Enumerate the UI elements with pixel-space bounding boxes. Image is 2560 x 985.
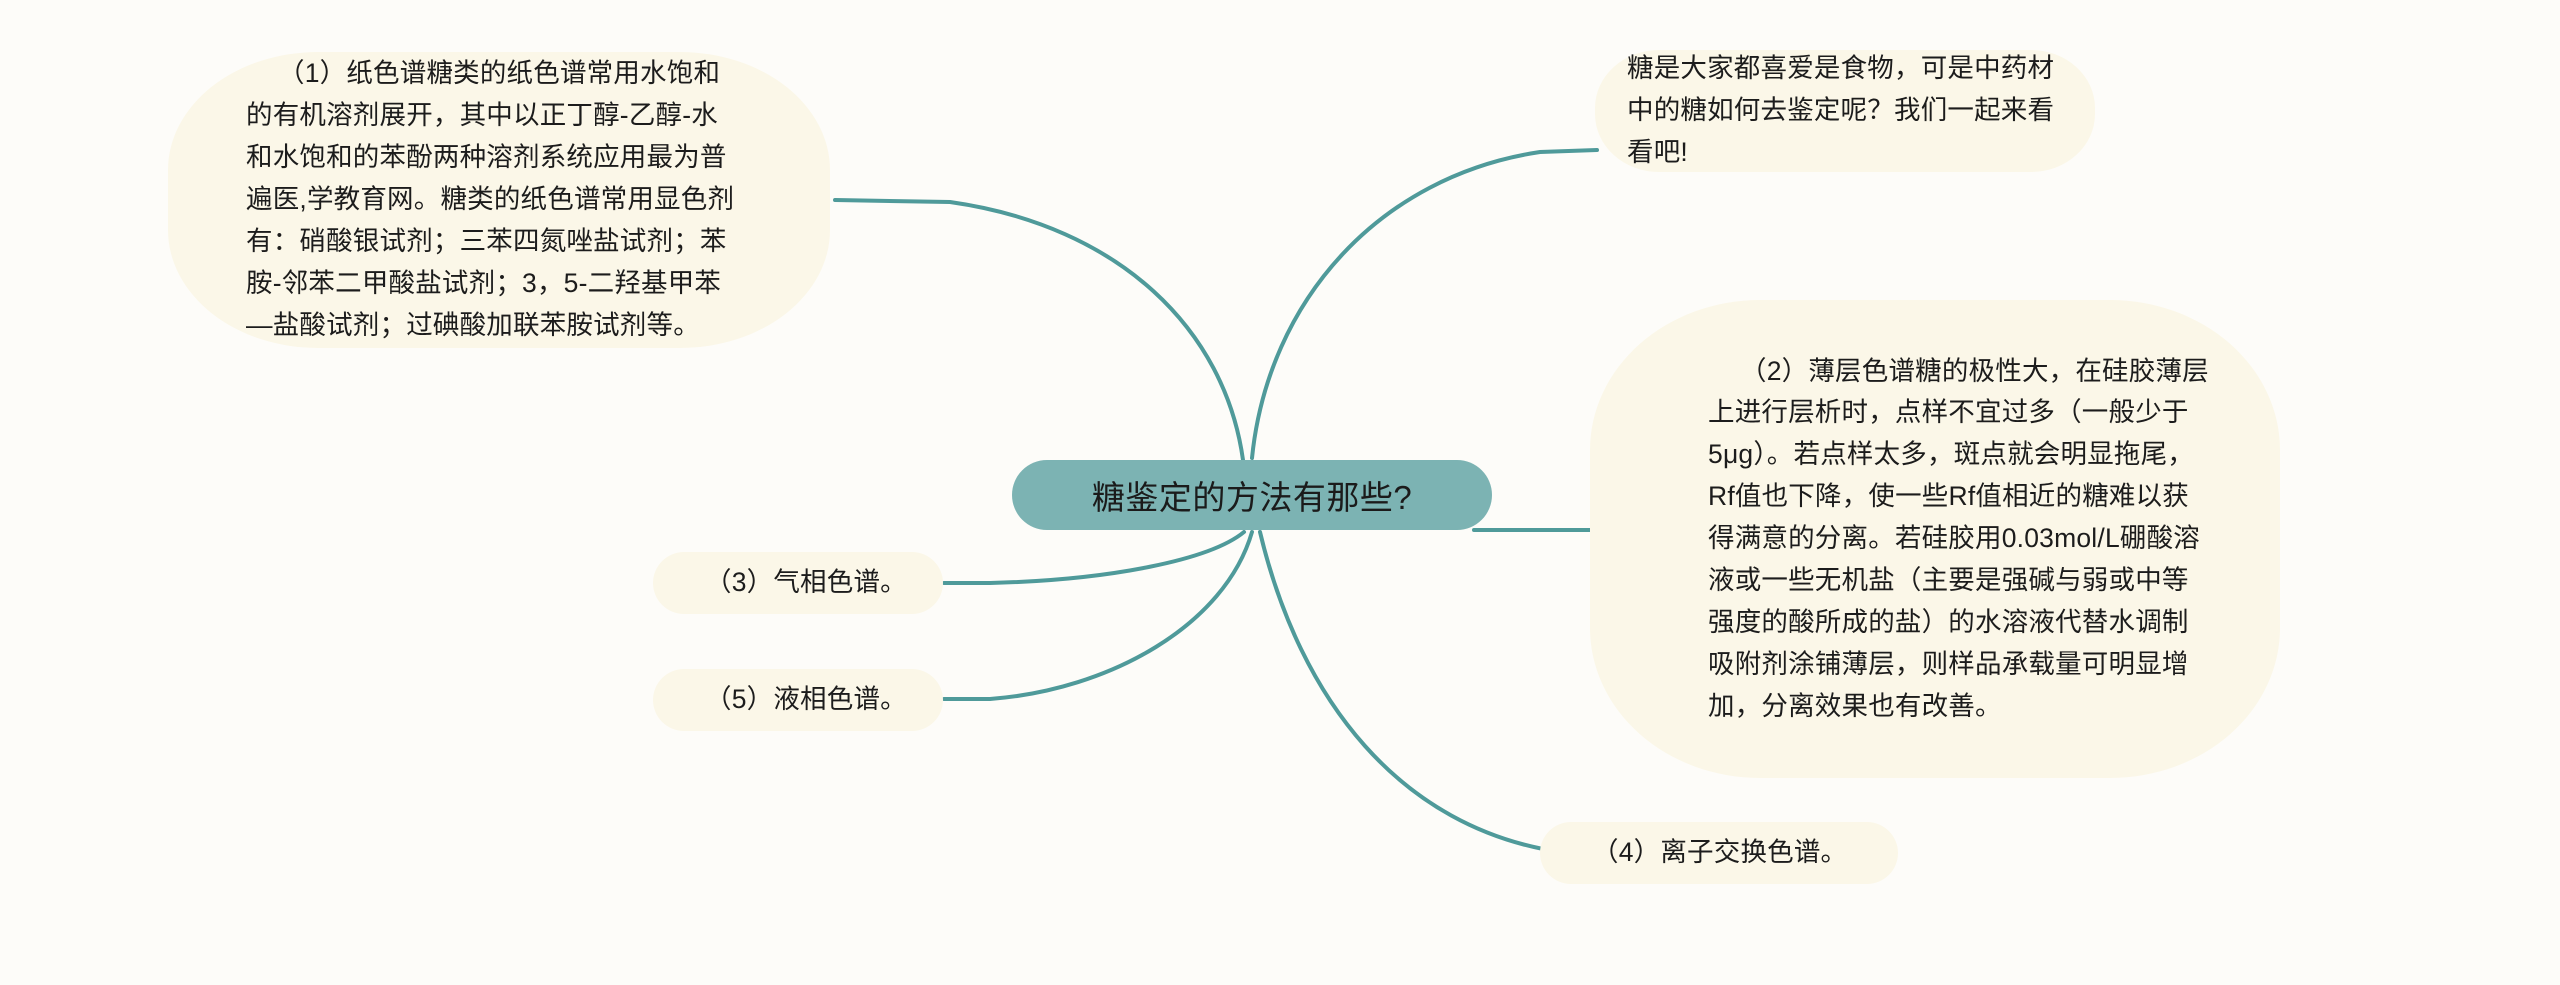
edge-to-gas-chromatography: [944, 532, 1244, 583]
central-topic-label: 糖鉴定的方法有那些?: [1092, 471, 1412, 519]
node-intro[interactable]: 糖是大家都喜爱是食物，可是中药材中的糖如何去鉴定呢？我们一起来看看吧!: [1595, 50, 2095, 172]
node-intro-label: 糖是大家都喜爱是食物，可是中药材中的糖如何去鉴定呢？我们一起来看看吧!: [1627, 48, 2071, 174]
edge-to-intro: [1252, 150, 1597, 458]
node-gas-chromatography-label: （3）气相色谱。: [705, 562, 943, 604]
central-topic-node[interactable]: 糖鉴定的方法有那些?: [1012, 460, 1492, 530]
node-ion-exchange-chromatography-label: （4）离子交换色谱。: [1592, 832, 1898, 874]
node-paper-chromatography-label: （1）纸色谱糖类的纸色谱常用水饱和的有机溶剂展开，其中以正丁醇-乙醇-水和水饱和…: [246, 53, 744, 346]
edge-to-ion-exchange: [1260, 532, 1612, 853]
node-ion-exchange-chromatography[interactable]: （4）离子交换色谱。: [1540, 822, 1898, 884]
edge-to-paper-chromatography: [835, 200, 1243, 460]
node-liquid-chromatography[interactable]: （5）液相色谱。: [653, 669, 943, 731]
node-thin-layer-chromatography[interactable]: （2）薄层色谱糖的极性大，在硅胶薄层上进行层析时，点样不宜过多（一般少于5μg）…: [1590, 300, 2280, 778]
node-paper-chromatography[interactable]: （1）纸色谱糖类的纸色谱常用水饱和的有机溶剂展开，其中以正丁醇-乙醇-水和水饱和…: [168, 52, 830, 348]
node-thin-layer-chromatography-label: （2）薄层色谱糖的极性大，在硅胶薄层上进行层析时，点样不宜过多（一般少于5μg）…: [1708, 351, 2214, 728]
node-gas-chromatography[interactable]: （3）气相色谱。: [653, 552, 943, 614]
node-liquid-chromatography-label: （5）液相色谱。: [705, 679, 943, 721]
mindmap-canvas: （1）纸色谱糖类的纸色谱常用水饱和的有机溶剂展开，其中以正丁醇-乙醇-水和水饱和…: [0, 0, 2560, 985]
edge-to-liquid-chromatography: [944, 532, 1252, 699]
